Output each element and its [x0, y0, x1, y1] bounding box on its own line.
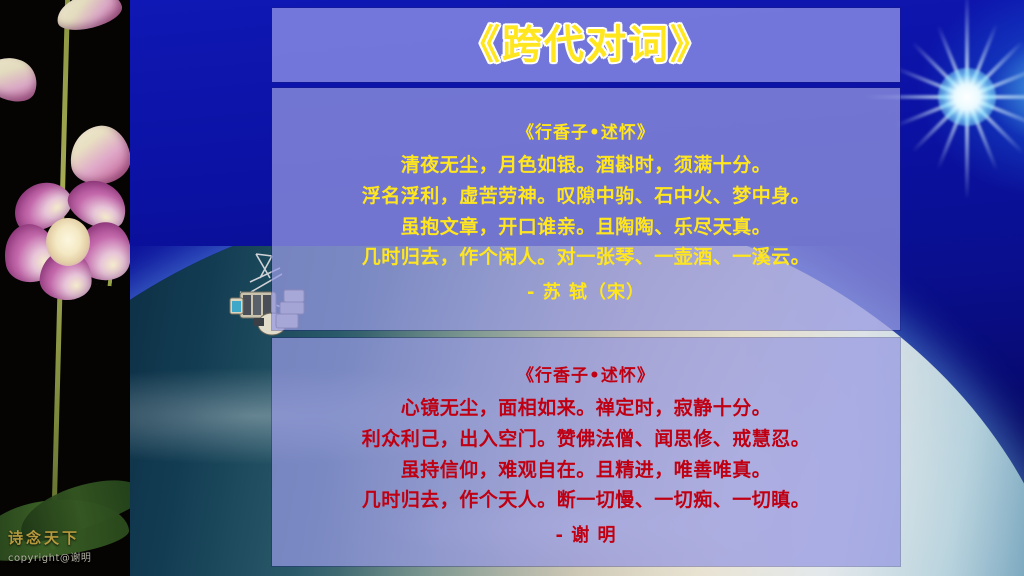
poem-line: 清夜无尘，月色如银。酒斟时，须满十分。: [401, 150, 772, 181]
poem-block: 《行香子•述怀》 心镜无尘，面相如来。禅定时，寂静十分。 利众利己，出入空门。赞…: [272, 338, 900, 566]
poem-line: 浮名浮利，虚苦劳神。叹隙中驹、石中火、梦中身。: [362, 181, 811, 212]
orchid-bud: [0, 49, 44, 108]
watermark-chinese: 诗念天下: [8, 527, 91, 548]
watermark-copyright: copyright@谢明: [8, 549, 91, 564]
poem-line: 虽持信仰，难观自在。且精进，唯善唯真。: [401, 455, 772, 486]
poem-line: 几时归去，作个天人。断一切慢、一切痴、一切瞋。: [362, 485, 811, 516]
orchid-flower-icon: [10, 172, 130, 304]
poem-heading: 《行香子•述怀》: [517, 361, 655, 386]
poem-line: 虽抱文章，开口谁亲。且陶陶、乐尽天真。: [401, 212, 772, 243]
poem-panel-su-shi: 《行香子•述怀》 清夜无尘，月色如银。酒斟时，须满十分。 浮名浮利，虚苦劳神。叹…: [272, 88, 900, 330]
title-panel: 《跨代对词》: [272, 8, 900, 82]
watermark: 诗念天下 copyright@谢明: [8, 527, 91, 564]
poem-line: 心镜无尘，面相如来。禅定时，寂静十分。: [401, 393, 772, 424]
poem-line: 几时归去，作个闲人。对一张琴、一壶酒、一溪云。: [362, 242, 811, 273]
poem-block: 《行香子•述怀》 清夜无尘，月色如银。酒斟时，须满十分。 浮名浮利，虚苦劳神。叹…: [272, 88, 900, 330]
page-title: 《跨代对词》: [460, 25, 712, 65]
poem-author: - 谢 明: [555, 521, 616, 547]
poem-panel-xie-ming: 《行香子•述怀》 心镜无尘，面相如来。禅定时，寂静十分。 利众利己，出入空门。赞…: [272, 338, 900, 566]
poem-author: - 苏 轼（宋）: [527, 278, 645, 304]
poem-line: 利众利己，出入空门。赞佛法僧、闻思修、戒慧忍。: [362, 424, 811, 455]
orchid-side-panel: 诗念天下 copyright@谢明: [0, 0, 130, 576]
poem-heading: 《行香子•述怀》: [517, 118, 655, 143]
slide-canvas: 诗念天下 copyright@谢明 《跨代对词》 《行香子•述怀》 清夜无尘，月…: [0, 0, 1024, 576]
